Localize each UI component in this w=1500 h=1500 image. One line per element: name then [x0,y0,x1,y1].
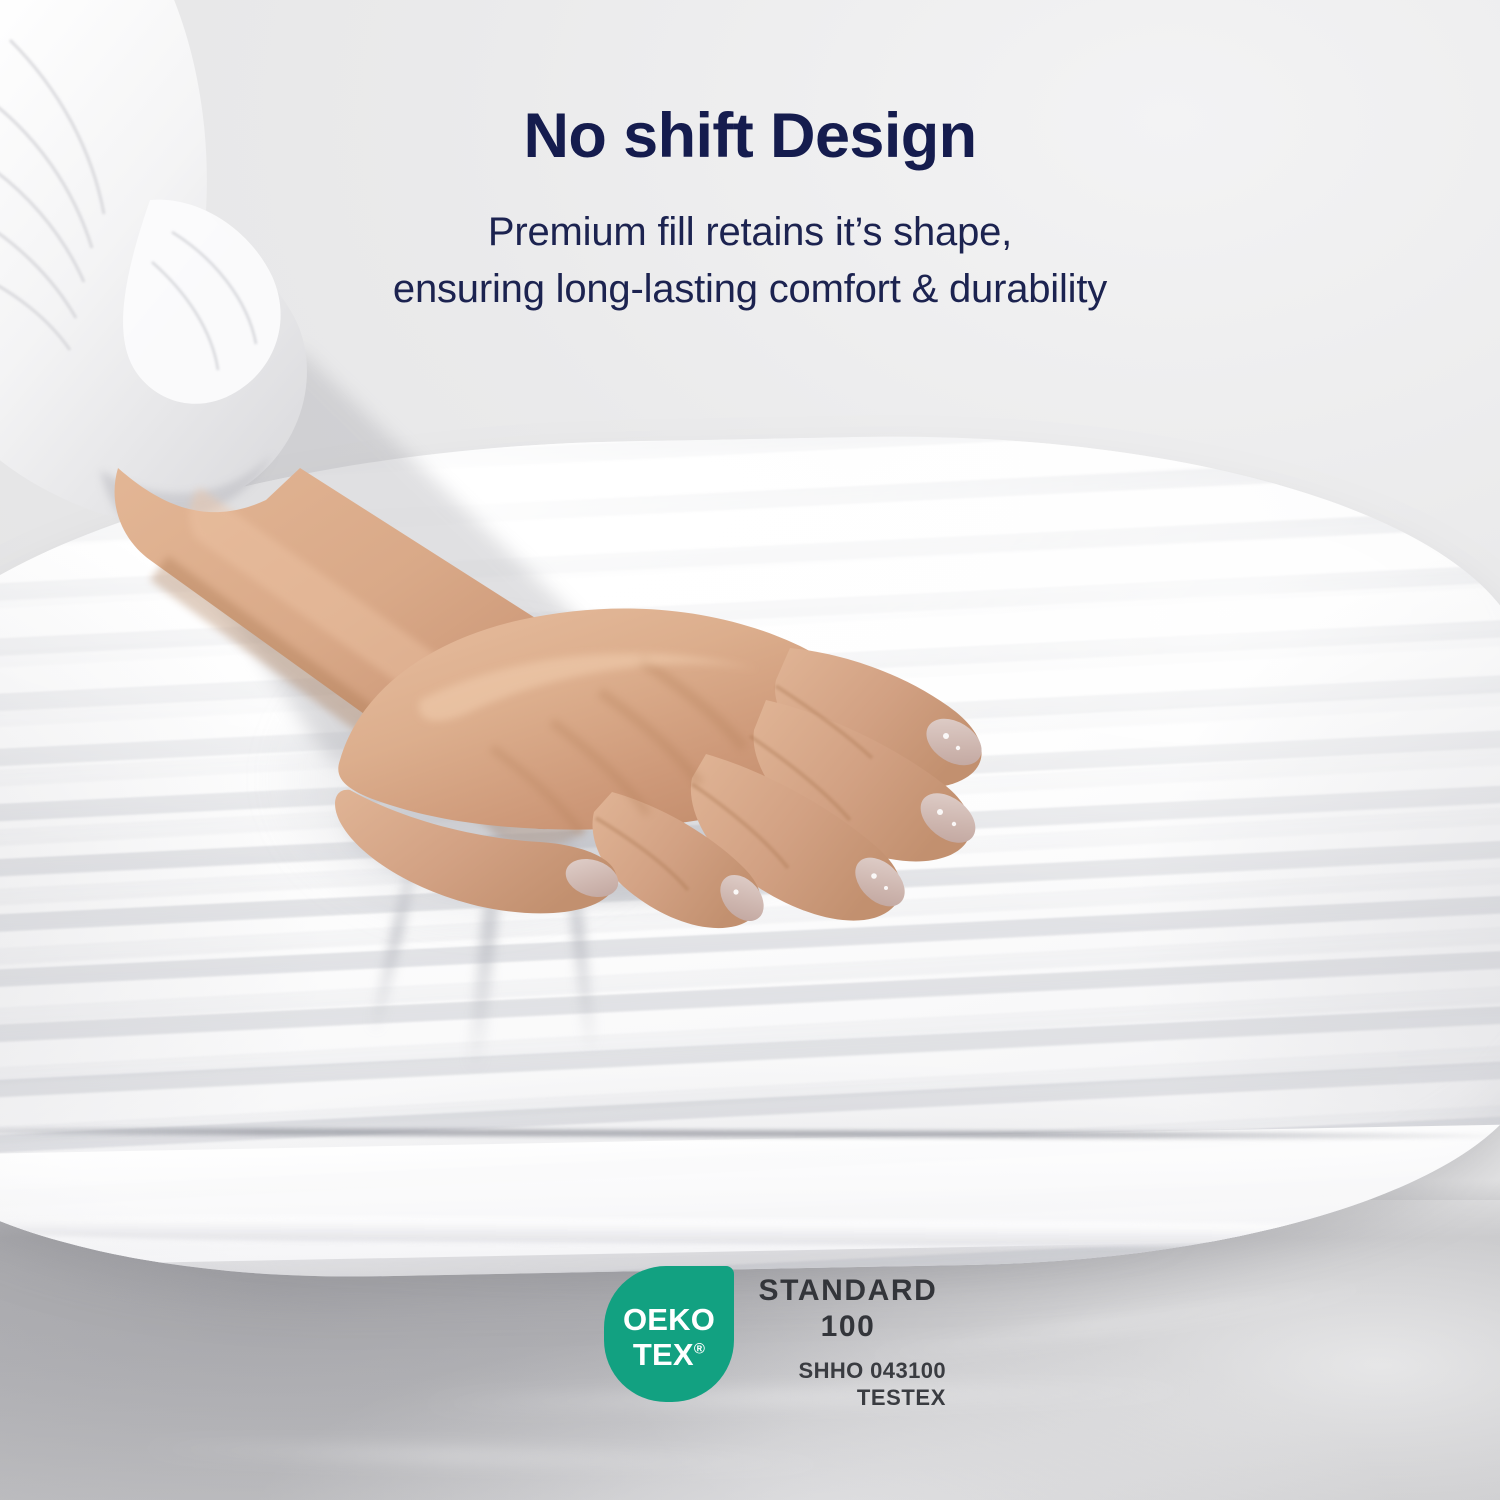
testing-institute: TESTEX [750,1384,946,1413]
headline-block: No shift Design Premium fill retains it’… [0,104,1500,318]
standard-label: STANDARD [750,1274,946,1309]
oeko-tex-droplet-logo: OEKO TEX® [604,1266,734,1402]
tex-label: TEX® [633,1339,705,1370]
certification-text-block: STANDARD 100 SHHO 043100 TESTEX [750,1266,946,1413]
subtitle-line-2: ensuring long-lasting comfort & durabili… [0,261,1500,318]
certificate-number: SHHO 043100 [750,1357,946,1385]
product-marketing-image: No shift Design Premium fill retains it’… [0,0,1500,1500]
subtitle-line-1: Premium fill retains it’s shape, [0,204,1500,261]
page-title: No shift Design [0,104,1500,168]
standard-number: 100 [750,1309,946,1345]
registered-mark-icon: ® [694,1341,705,1358]
subtitle: Premium fill retains it’s shape, ensurin… [0,204,1500,318]
oeko-label: OEKO [623,1304,715,1335]
tex-text: TEX [633,1337,694,1372]
oeko-tex-certification-badge: OEKO TEX® STANDARD 100 SHHO 043100 TESTE… [604,1266,946,1413]
